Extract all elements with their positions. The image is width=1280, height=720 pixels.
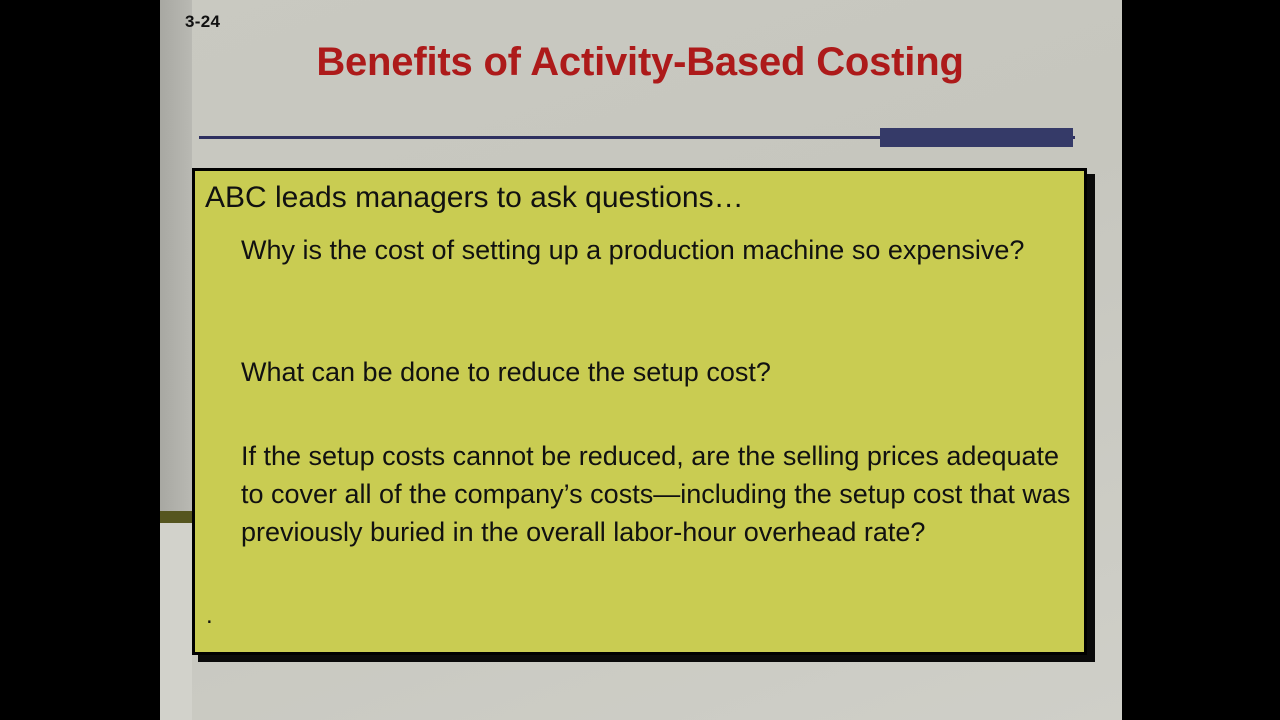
slide-stage: 3-24 Benefits of Activity-Based Costing … bbox=[0, 0, 1280, 720]
slide-canvas: 3-24 Benefits of Activity-Based Costing … bbox=[160, 0, 1122, 720]
left-accent-band-lower bbox=[160, 523, 192, 720]
content-panel: ABC leads managers to ask questions… Why… bbox=[192, 168, 1087, 655]
trailing-period-mark: . bbox=[206, 611, 213, 621]
content-heading: ABC leads managers to ask questions… bbox=[205, 180, 744, 216]
question-item-1: Why is the cost of setting up a producti… bbox=[241, 231, 1081, 269]
slide-number: 3-24 bbox=[185, 12, 220, 32]
left-accent-band-foot bbox=[160, 511, 192, 523]
page-title: Benefits of Activity-Based Costing bbox=[200, 40, 1080, 85]
question-item-3: If the setup costs cannot be reduced, ar… bbox=[241, 437, 1081, 551]
left-accent-band bbox=[160, 0, 192, 511]
question-item-2: What can be done to reduce the setup cos… bbox=[241, 353, 1081, 391]
header-accent-block bbox=[880, 128, 1073, 147]
